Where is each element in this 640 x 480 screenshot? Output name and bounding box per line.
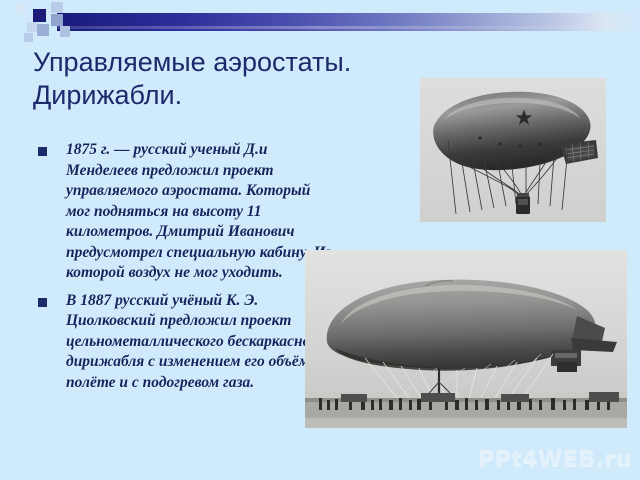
watermark-ppt4web: PPt4WEB.ru (478, 447, 632, 472)
decorative-square-right (60, 26, 70, 37)
decorative-square-dark (33, 9, 46, 22)
square-bullet-icon (38, 298, 47, 307)
slide-title-line-1: Управляемые аэростаты. (33, 46, 433, 79)
decorative-square-mid (51, 14, 63, 26)
slide-canvas: Управляемые аэростаты. Дирижабли. 1875 г… (0, 0, 640, 480)
decorative-square-pale (16, 4, 26, 14)
list-item: В 1887 русский учёный К. Э. Циолковский … (36, 291, 336, 394)
slide-title: Управляемые аэростаты. Дирижабли. (33, 46, 433, 112)
header-bar-highlight (57, 26, 640, 29)
bullet-text-2: В 1887 русский учёный К. Э. Циолковский … (66, 292, 328, 391)
decorative-square-lower-left (27, 22, 37, 32)
bullet-list: 1875 г. — русский ученый Д.и Менделеев п… (36, 140, 336, 400)
airship-with-star-photo (420, 78, 606, 222)
square-bullet-icon (38, 147, 47, 156)
decorative-square-light-top (51, 2, 63, 13)
decorative-square-bottom (24, 33, 33, 42)
list-item: 1875 г. — русский ученый Д.и Менделеев п… (36, 140, 336, 284)
moored-airship-illustration (305, 250, 627, 428)
moored-airship-photo (305, 250, 627, 428)
airship-with-star-illustration (420, 78, 606, 222)
bullet-text-1: 1875 г. — русский ученый Д.и Менделеев п… (66, 141, 332, 281)
decorative-square-lower-mid (37, 24, 49, 36)
slide-title-line-2: Дирижабли. (33, 79, 433, 112)
